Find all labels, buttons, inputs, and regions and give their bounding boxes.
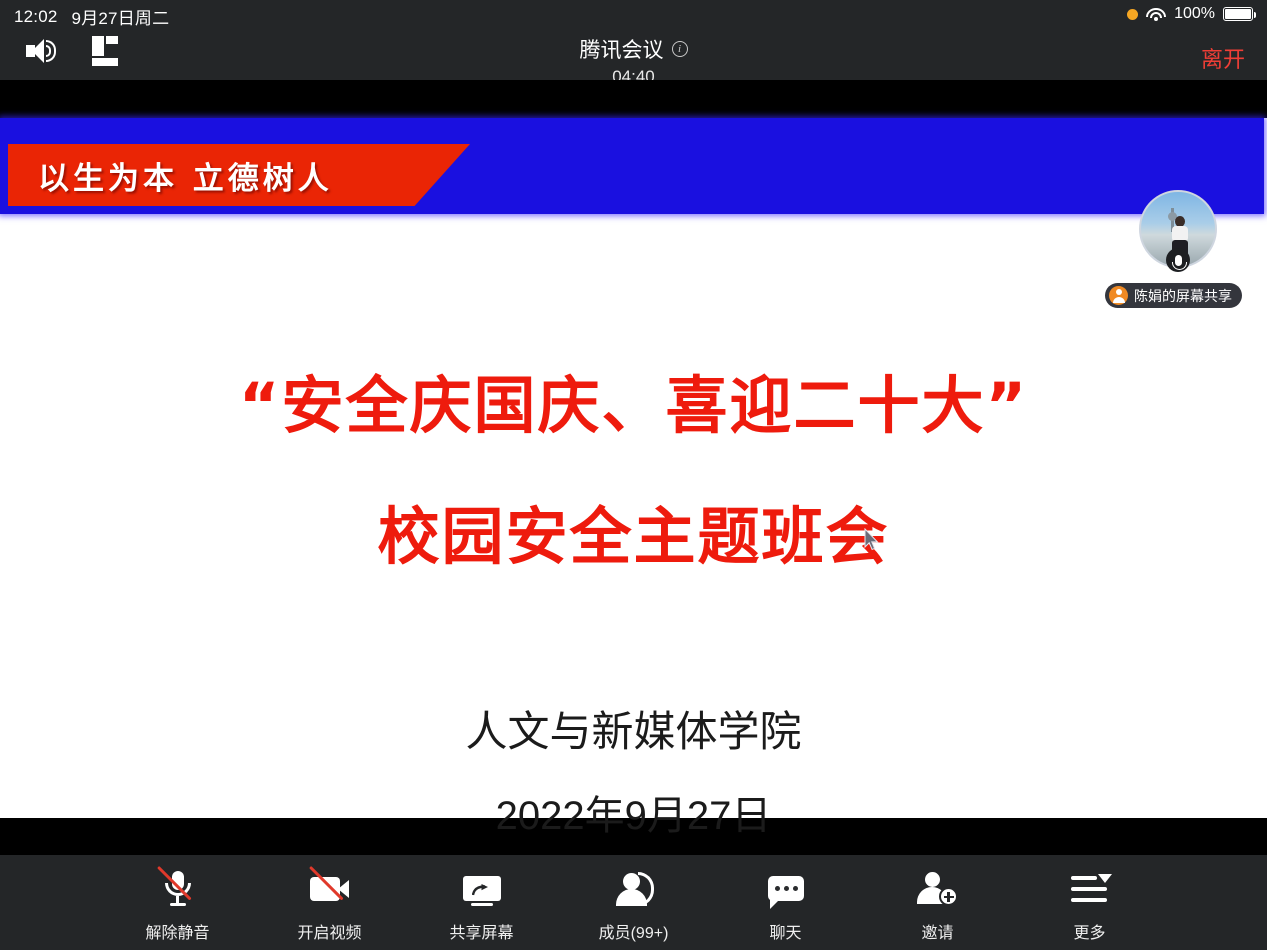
toolbar-item-label: 开启视频 [297,919,361,943]
toolbar-more-button[interactable]: 更多 [1040,869,1140,943]
toolbar-item-label: 聊天 [769,919,801,943]
leave-button[interactable]: 离开 [1201,42,1245,74]
status-bar-right: 100% [1127,5,1253,23]
mic-icon [1166,248,1190,272]
more-icon [1067,869,1113,909]
meeting-bottom-toolbar: 解除静音开启视频共享屏幕成员(99+)聊天邀请更多 [0,855,1267,950]
mic-off-icon [155,869,201,909]
info-icon[interactable]: i [672,41,688,57]
presentation-slide: 以生为本 立德树人 “安全庆国庆、喜迎二十大” 校园安全主题班会 人文与新媒体学… [0,118,1267,818]
battery-percent: 100% [1174,5,1215,23]
status-date: 9月27日周二 [72,4,170,29]
banner-text: 以生为本 立德树人 [38,153,333,198]
share-screen-icon [459,869,505,909]
toolbar-item-label: 解除静音 [145,919,209,943]
meeting-title: 腾讯会议 [580,34,664,64]
user-badge-icon [1109,286,1128,305]
orange-dot-icon [1127,9,1138,20]
mouse-cursor [864,528,880,552]
shared-screen-stage[interactable]: 以生为本 立德树人 “安全庆国庆、喜迎二十大” 校园安全主题班会 人文与新媒体学… [0,80,1267,855]
status-bar-left: 12:02 9月27日周二 [14,4,169,29]
banner-ribbon: 以生为本 立德树人 [8,144,470,206]
presenter-name-label: 陈娟的屏幕共享 [1134,286,1232,306]
toolbar-camera-off-button[interactable]: 开启视频 [280,869,380,943]
toolbar-members-button[interactable]: 成员(99+) [584,869,684,943]
status-bar: 12:02 9月27日周二 100% [0,0,1267,28]
toolbar-chat-button[interactable]: 聊天 [736,869,836,943]
slide-banner: 以生为本 立德树人 [0,118,1264,214]
toolbar-share-screen-button[interactable]: 共享屏幕 [432,869,532,943]
toolbar-invite-button[interactable]: 邀请 [888,869,988,943]
slide-date: 2022年9月27日 [0,783,1267,841]
status-time: 12:02 [14,7,58,27]
toolbar-item-label: 邀请 [921,919,953,943]
camera-off-icon [307,869,353,909]
members-icon [611,869,657,909]
toolbar-mic-off-button[interactable]: 解除静音 [128,869,228,943]
slide-title-line-2: 校园安全主题班会 [0,486,1267,576]
toolbar-item-label: 共享屏幕 [449,919,513,943]
invite-icon [915,869,961,909]
slide-title-line-1: “安全庆国庆、喜迎二十大” [0,355,1267,445]
chat-icon [763,869,809,909]
meeting-header: 腾讯会议 i 04:40 离开 [0,28,1267,80]
slide-organization: 人文与新媒体学院 [0,698,1267,759]
toolbar-item-label: 更多 [1073,919,1105,943]
battery-icon [1223,7,1253,21]
toolbar-item-label: 成员(99+) [599,919,669,943]
screen-share-label: 陈娟的屏幕共享 [1105,283,1242,308]
wifi-icon [1146,7,1166,22]
